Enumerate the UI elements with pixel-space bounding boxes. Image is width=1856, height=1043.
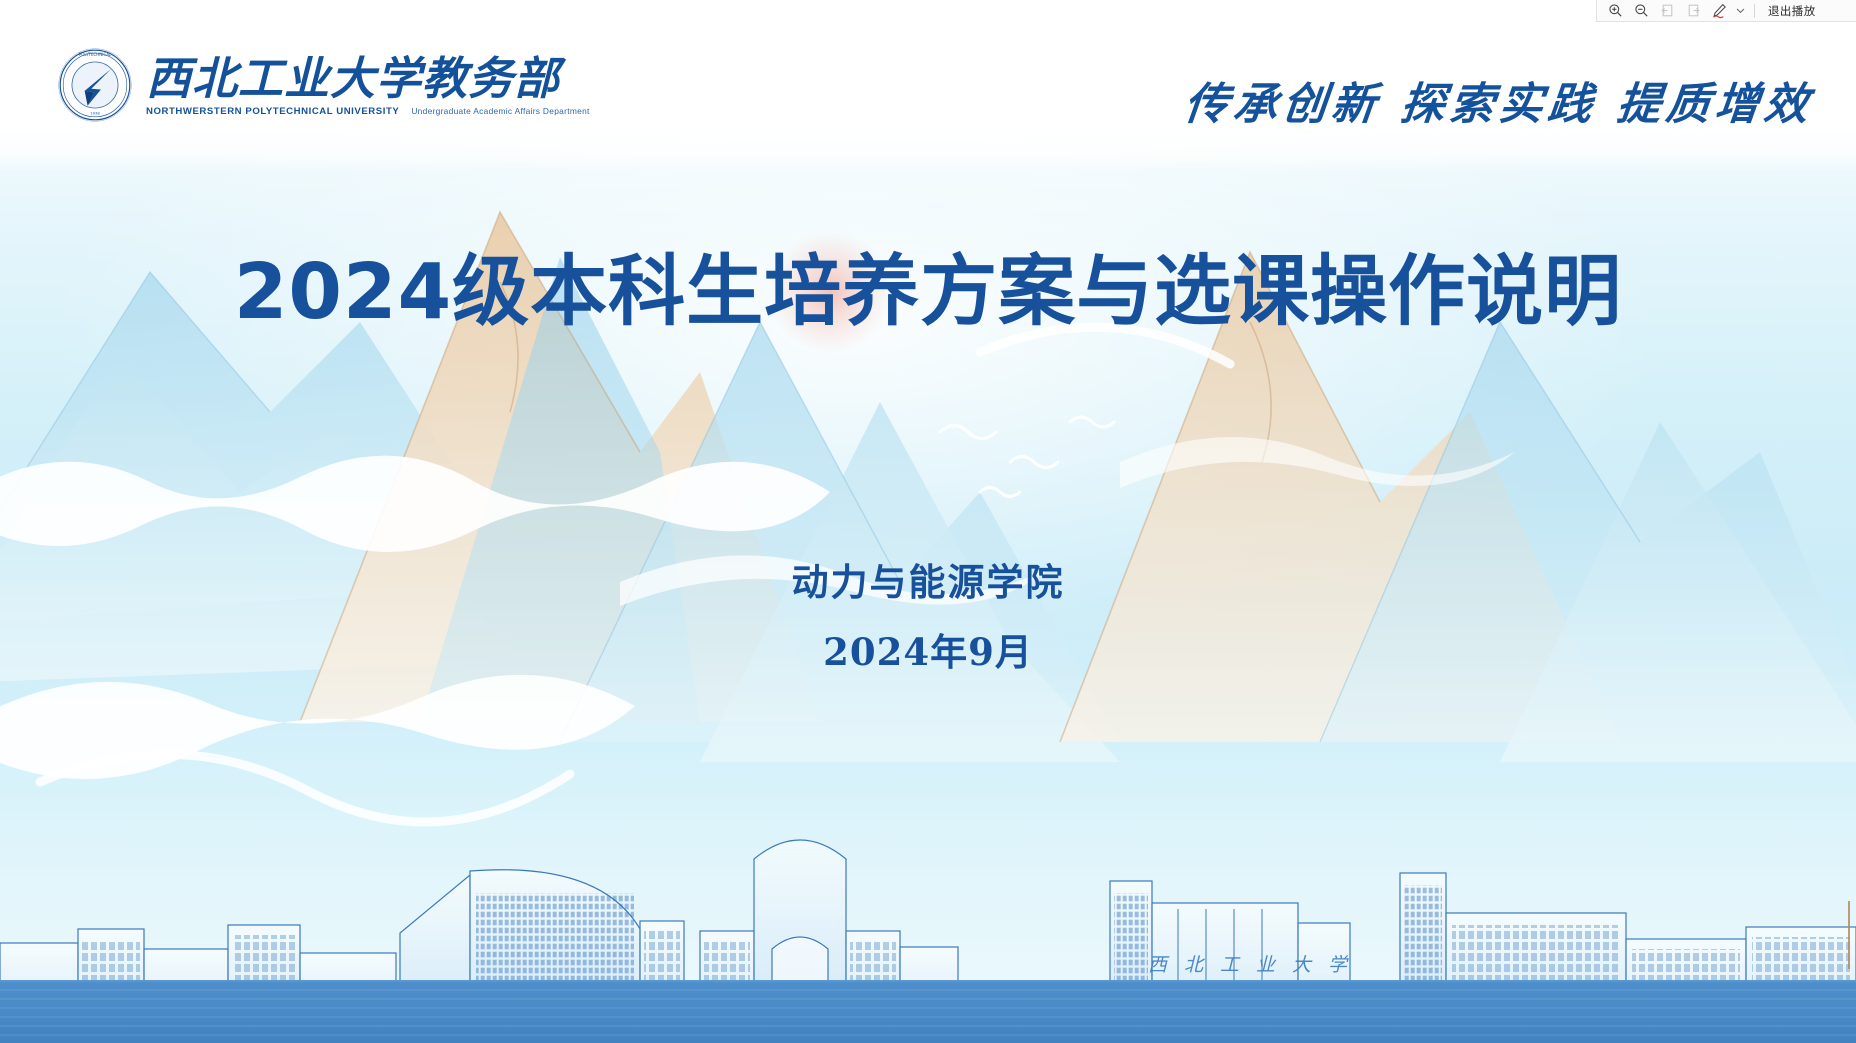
presentation-slide[interactable]: 西北工业大学 POLYTECHNICAL 1938 西北工业大学教务部 NORT… [0,22,1856,1043]
logo-english-department: Undergraduate Academic Affairs Departmen… [411,106,589,116]
zoom-in-icon [1608,3,1623,18]
building-facade-text: 西北工业大学 [1148,950,1364,977]
water-band [0,980,1856,1043]
slide-title: 2024级本科生培养方案与选课操作说明 [0,250,1856,336]
exit-playback-button[interactable]: 退出播放 [1762,2,1822,20]
slide-organization: 动力与能源学院 [0,552,1856,606]
toolbar-separator [1754,4,1755,18]
next-page-button[interactable] [1681,2,1705,20]
viewer-toolbar: 退出播放 [1596,0,1856,22]
chevron-down-icon [1736,6,1745,15]
logo-english-line: NORTHWERSTERN POLYTECHNICAL UNIVERSITY U… [146,106,590,117]
previous-page-button[interactable] [1655,2,1679,20]
logo-text-block: 西北工业大学教务部 NORTHWERSTERN POLYTECHNICAL UN… [146,53,590,116]
page-edge-marker [1848,901,1850,969]
next-page-icon [1686,3,1701,18]
university-seal-icon: POLYTECHNICAL 1938 [58,48,132,122]
zoom-out-icon [1634,3,1649,18]
zoom-in-button[interactable] [1603,2,1627,20]
logo-chinese-name: 西北工业大学教务部 [146,55,590,102]
slide-date: 2024年9月 [0,622,1856,676]
pen-options-dropdown[interactable] [1733,2,1747,20]
university-logo-lockup: POLYTECHNICAL 1938 西北工业大学教务部 NORTHWERSTE… [58,48,590,122]
previous-page-icon [1660,3,1675,18]
svg-text:1938: 1938 [90,112,100,116]
pen-annotate-button[interactable] [1707,2,1731,20]
zoom-out-button[interactable] [1629,2,1653,20]
svg-text:POLYTECHNICAL: POLYTECHNICAL [79,52,112,57]
logo-english-university: NORTHWERSTERN POLYTECHNICAL UNIVERSITY [146,106,399,117]
pen-annotate-icon [1711,3,1728,19]
slogan-calligraphy: 传承创新 探索实践 提质增效 [1182,68,1817,132]
